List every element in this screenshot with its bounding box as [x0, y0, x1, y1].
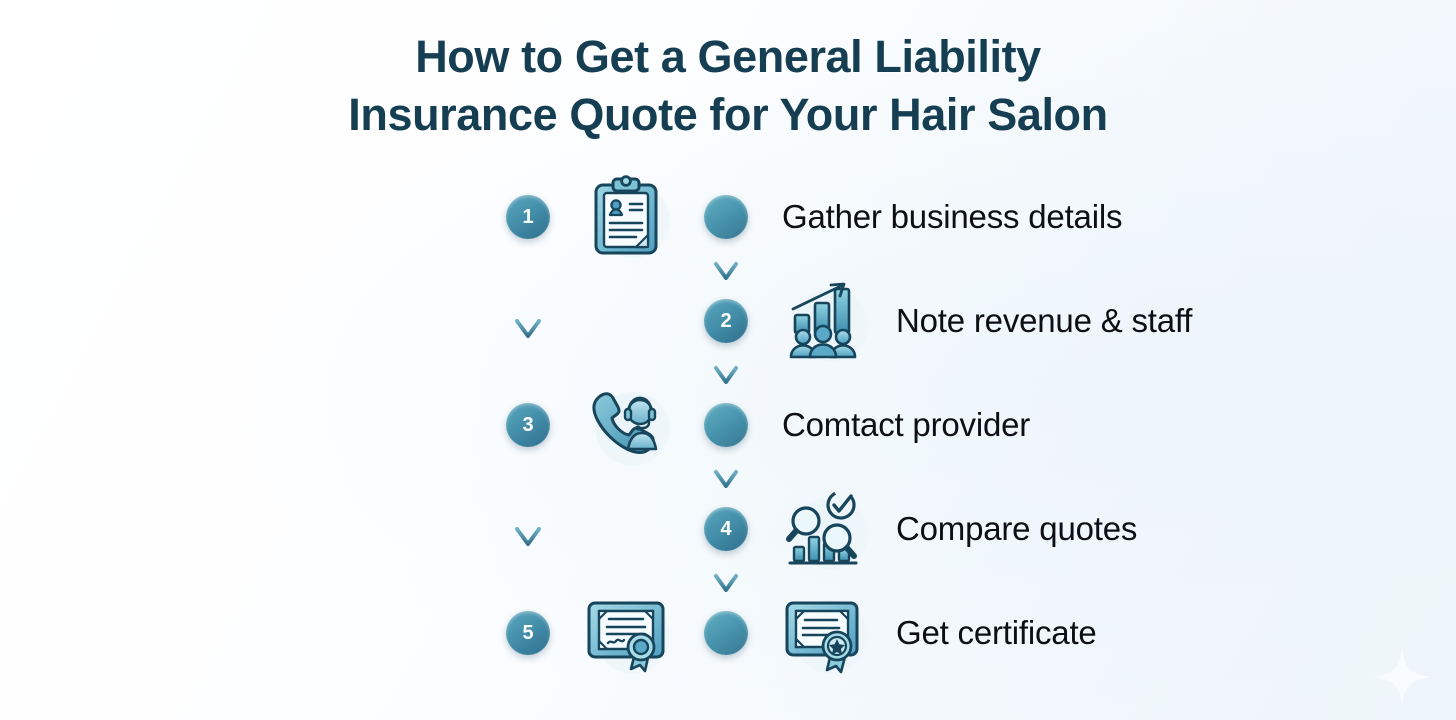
step-node-2[interactable]: 2	[704, 299, 748, 343]
magnifier-compare-icon	[776, 480, 872, 576]
right-node-1[interactable]	[704, 195, 748, 239]
page-title: How to Get a General Liability Insurance…	[0, 28, 1456, 143]
step-label-2: Note revenue & staff	[896, 299, 1192, 343]
page-title-line-2: Insurance Quote for Your Hair Salon	[0, 86, 1456, 144]
process-flow: 1 3 5 2 4	[0, 178, 1456, 688]
right-node-5[interactable]	[704, 611, 748, 655]
step-node-1-number: 1	[522, 207, 533, 227]
growth-chart-people-icon	[776, 272, 872, 368]
step-label-3: Comtact provider	[782, 403, 1030, 447]
step-label-5: Get certificate	[896, 611, 1097, 655]
certificate-star-icon	[776, 584, 872, 680]
page-title-line-1: How to Get a General Liability	[0, 28, 1456, 86]
step-node-5[interactable]: 5	[506, 611, 550, 655]
clipboard-profile-icon	[578, 168, 674, 264]
step-node-1[interactable]: 1	[506, 195, 550, 239]
right-node-3[interactable]	[704, 403, 748, 447]
step-node-5-number: 5	[522, 623, 533, 643]
step-label-4: Compare quotes	[896, 507, 1137, 551]
phone-support-icon	[578, 376, 674, 472]
step-node-3-number: 3	[522, 415, 533, 435]
certificate-ribbon-icon	[578, 584, 674, 680]
step-node-4[interactable]: 4	[704, 507, 748, 551]
step-node-4-number: 4	[720, 519, 731, 539]
step-node-3[interactable]: 3	[506, 403, 550, 447]
step-label-1: Gather business details	[782, 195, 1122, 239]
step-node-2-number: 2	[720, 311, 731, 331]
